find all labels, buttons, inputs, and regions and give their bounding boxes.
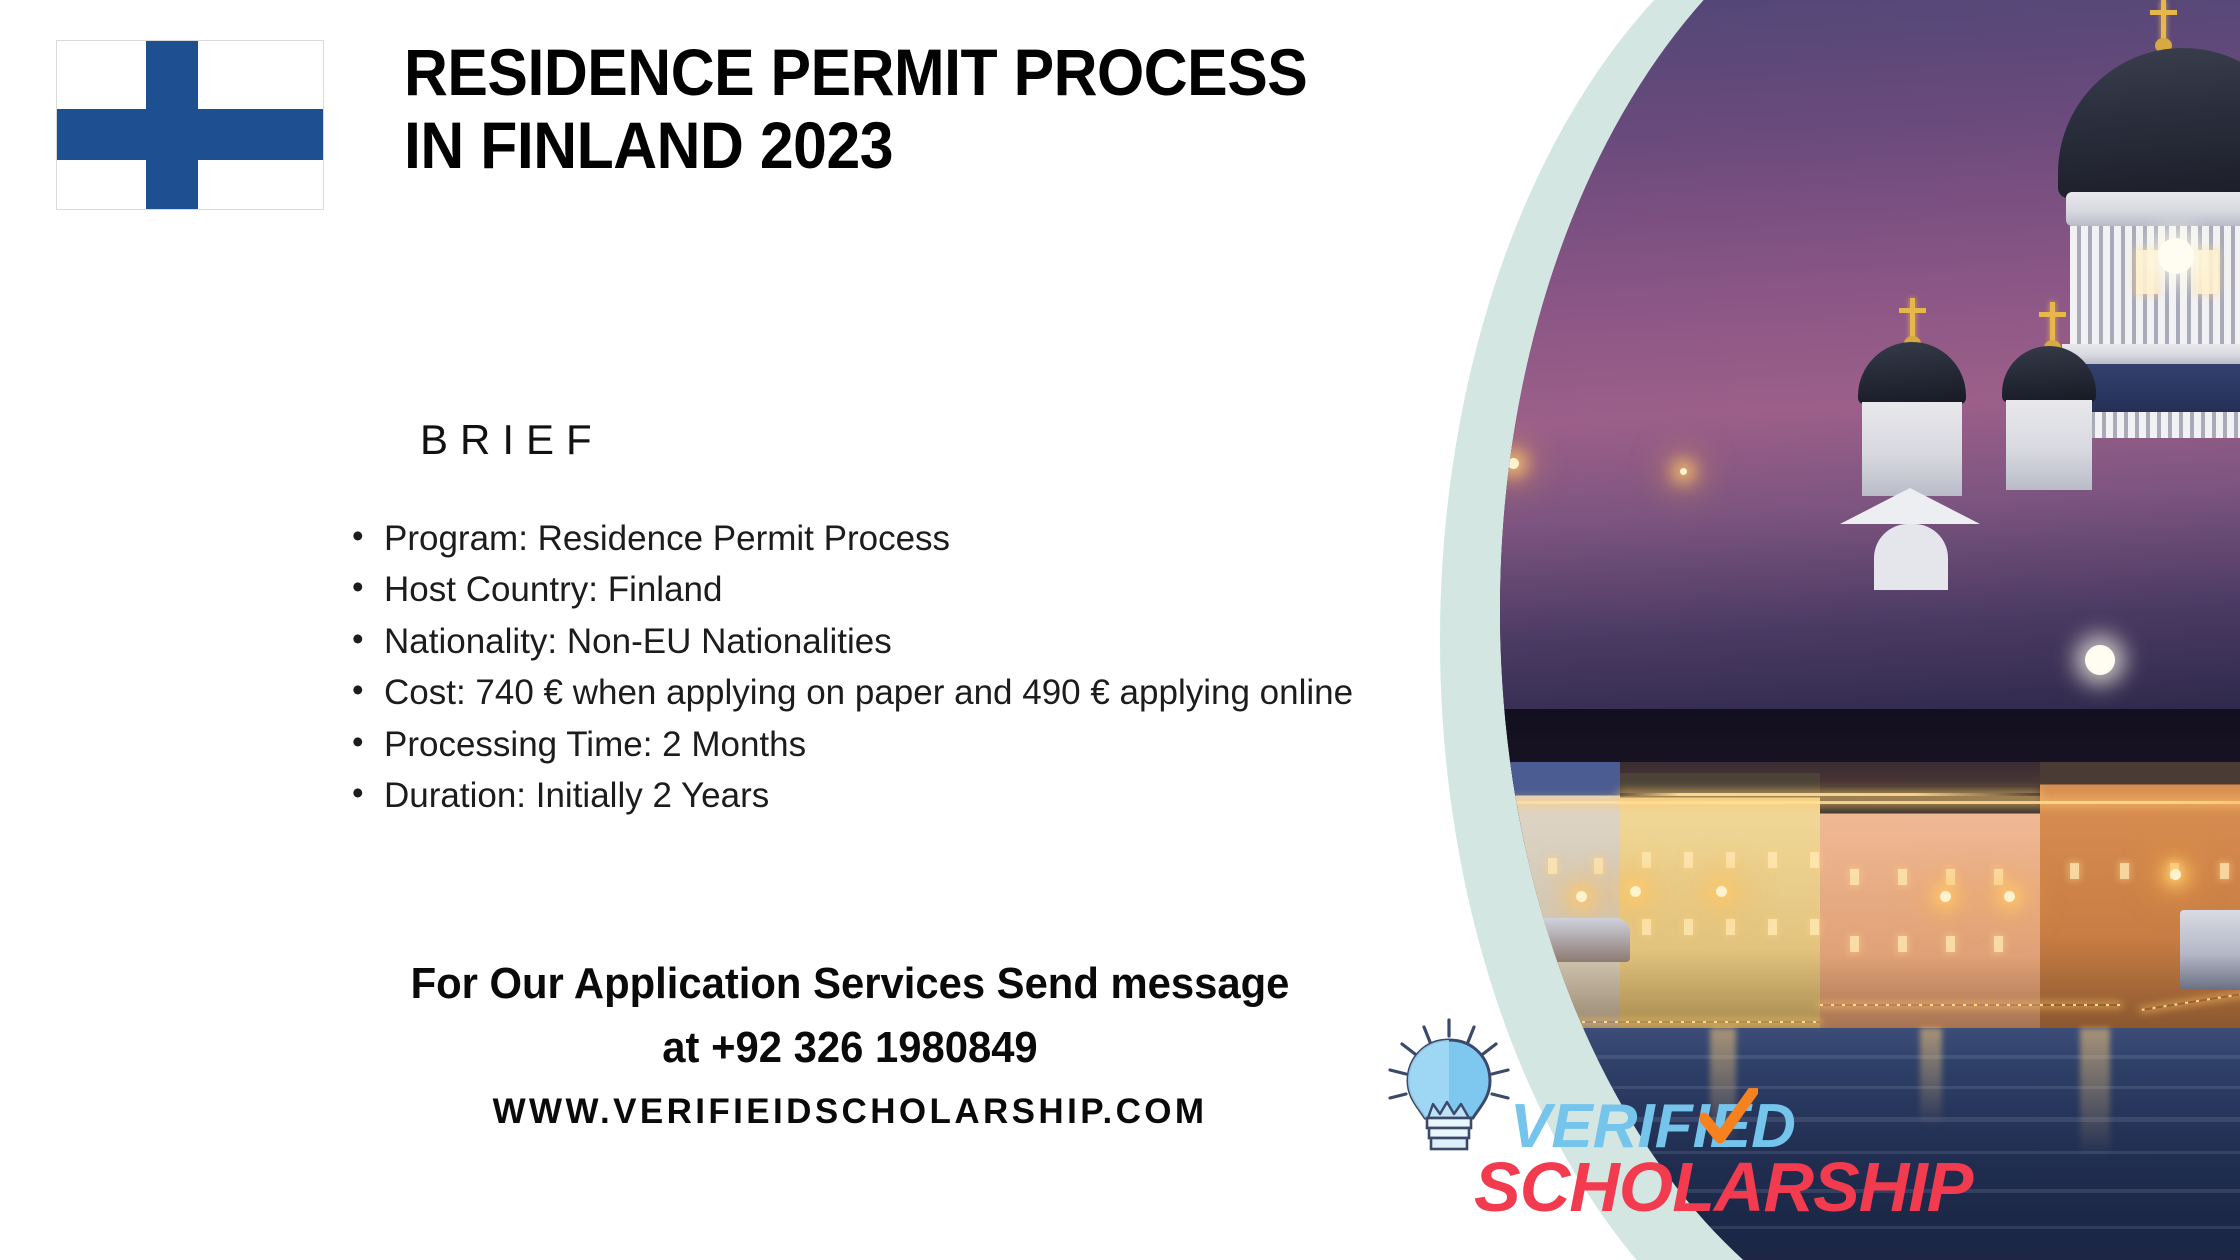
street-lamp-icon [1508,458,1519,469]
street-lamp-icon [2170,869,2181,880]
section-heading-brief: BRIEF [420,416,604,464]
harbor-boat [1510,918,1630,962]
verified-scholarship-logo[interactable]: VERIFIED SCHOLARSHIP [1378,1018,1758,1230]
street-lamp-icon [1630,886,1641,897]
moon-icon [2085,645,2115,675]
title-line-2: IN FINLAND 2023 [404,109,1324,182]
cta-line-1: For Our Application Services Send messag… [337,952,1363,1016]
website-url[interactable]: WWW.VERIFIEIDSCHOLARSHIP.COM [310,1092,1390,1132]
cta-line-2: at +92 326 1980849 [337,1016,1363,1080]
list-item: Program: Residence Permit Process [350,513,1380,564]
page-title: RESIDENCE PERMIT PROCESS IN FINLAND 2023 [404,36,1324,183]
street-lamp-icon [1716,886,1727,897]
list-item: Cost: 740 € when applying on paper and 4… [350,667,1380,718]
cta-block: For Our Application Services Send messag… [337,952,1363,1080]
flag-vertical-bar [146,41,198,209]
orange-checkmark-icon [1700,1088,1758,1148]
lightbulb-icon [1384,1018,1514,1168]
title-line-1: RESIDENCE PERMIT PROCESS [404,36,1324,109]
photo-waterfront-buildings [1500,762,2240,1043]
list-item: Nationality: Non-EU Nationalities [350,616,1380,667]
finland-flag [56,40,324,210]
harbor-boat [2180,910,2240,990]
poster-canvas: RESIDENCE PERMIT PROCESS IN FINLAND 2023… [0,0,2240,1260]
list-item: Processing Time: 2 Months [350,719,1380,770]
light-garland [1820,1004,2120,1006]
street-lamp-icon [1680,468,1687,475]
cathedral-right-dome [2002,302,2162,542]
list-item: Host Country: Finland [350,564,1380,615]
brief-list: Program: Residence Permit Process Host C… [350,513,1380,822]
list-item: Duration: Initially 2 Years [350,770,1380,821]
logo-word-scholarship: SCHOLARSHIP [1474,1152,1972,1222]
